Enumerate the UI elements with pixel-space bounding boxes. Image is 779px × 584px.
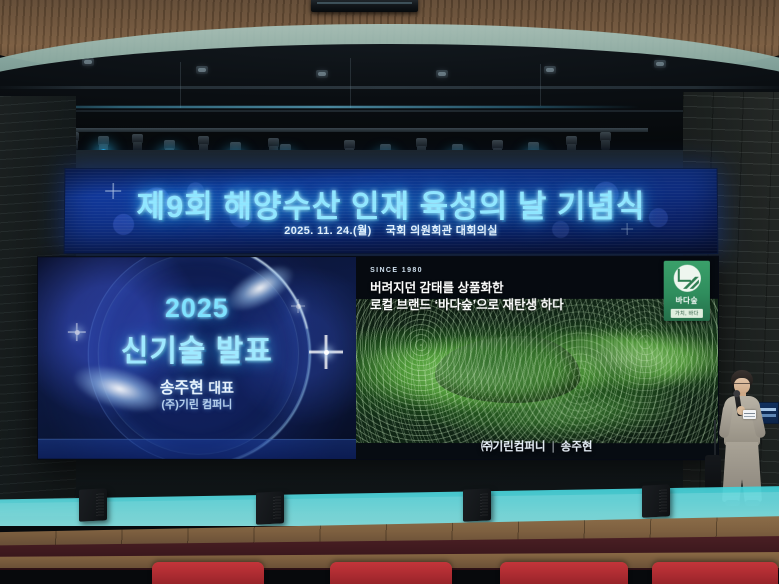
footer-separator: | [552,441,555,453]
lighting-truss [0,128,648,132]
banner-subtitle: 2025. 11. 24.(월)국회 의원회관 대회의실 [65,222,718,238]
stage-monitor-speaker [79,488,107,521]
banner-title: 제9회 해양수산 인재 육성의 날 기념식 [65,181,717,226]
ceiling-downlight [654,60,666,68]
stage-monitor-speaker [256,491,284,524]
rigging-cable [180,62,181,108]
audience-seat [330,562,452,584]
ceiling-downlight [544,66,556,74]
slide-footer: ㈜기린컴퍼니|송주현 [356,438,718,454]
slide-year: 2025 [38,293,356,324]
presentation-screen: 2025 신기술 발표 송주현 대표 (주)기린 컴퍼니 SINCE 1980 … [37,256,719,461]
slide-text-line2: 로컬 브랜드 ‘바다숲’으로 재탄생 하다 [370,294,564,313]
brand-logo-badge: 바다숲 가치, 바다 [664,261,710,321]
audience-seat [152,562,264,584]
slide-presenter: 송주현 대표 [38,374,356,398]
badge-emblem-icon [673,265,700,292]
audience-seat [500,562,628,584]
rigging-cable [540,64,541,106]
ceiling-downlight [82,58,94,66]
footer-presenter-name: 송주현 [561,441,593,453]
audience-seat [652,562,778,584]
presenter-role: 대표 [208,380,234,396]
presenter-figure [718,370,766,506]
banner-venue: 국회 의원회관 대회의실 [386,225,498,237]
stage-monitor-speaker [642,484,670,517]
badge-brand-name: 바다숲 [676,295,698,306]
presenter-name-badge [743,410,756,419]
truss-cross-beam-2 [0,110,779,112]
slide-title-panel: 2025 신기술 발표 송주현 대표 (주)기린 컴퍼니 [38,257,356,459]
ceiling-projector-unit [311,0,418,12]
slide-company: (주)기린 컴퍼니 [38,396,356,412]
slide-bottom-glow [38,439,356,459]
rigging-cable [350,58,351,108]
badge-tagline: 가치, 바다 [671,309,703,318]
glasses-icon [734,383,750,387]
ceiling-downlight [316,70,328,78]
banner-date: 2025. 11. 24.(월) [284,225,372,237]
stage-monitor-speaker [463,488,491,521]
presenter-name: 송주현 [160,380,204,397]
since-label: SINCE 1980 [370,267,423,274]
event-banner-led-screen: 제9회 해양수산 인재 육성의 날 기념식 2025. 11. 24.(월)국회… [64,168,719,254]
ceiling-downlight [436,70,448,78]
stage-light-fixture [598,132,613,152]
truss-led-strip [0,106,640,108]
footer-company: ㈜기린컴퍼니 [481,441,546,453]
truss-cross-beam [0,86,779,89]
slide-headline: 신기술 발표 [38,326,356,370]
ceiling-downlight [196,66,208,74]
slide-content-panel: SINCE 1980 버려지던 감태를 상품화한 로컬 브랜드 ‘바다숲’으로 … [356,257,718,460]
auditorium-stage-photo: 제9회 해양수산 인재 육성의 날 기념식 2025. 11. 24.(월)국회… [0,0,779,584]
